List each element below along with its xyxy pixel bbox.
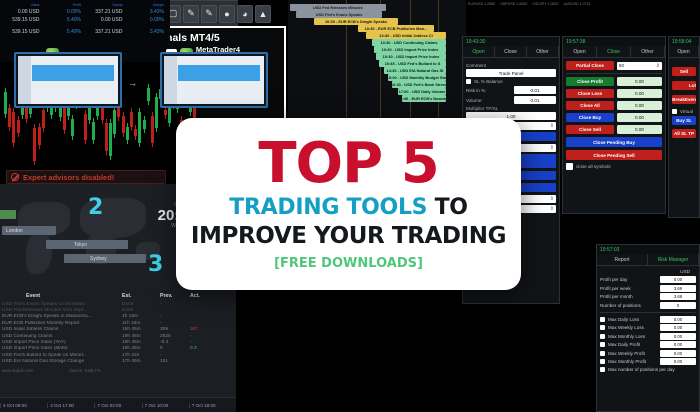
calendar-prev: 0	[160, 346, 190, 351]
report-limit-row: Max Weekly Profit0.00	[600, 350, 696, 357]
calendar-col-est: Est.	[122, 293, 160, 299]
quote-pct: 5.40%	[44, 17, 86, 23]
gantt-bar[interactable]: 10:30 - USD Import Price Index	[376, 53, 446, 60]
monitor-stand	[58, 106, 79, 108]
calendar-est: 19h 45m	[122, 327, 160, 332]
calendar-row[interactable]: USD Fed's Bullard to Speak on Monet...17…	[0, 352, 236, 358]
close-value[interactable]: 0.00	[617, 125, 662, 134]
close-profit-button[interactable]: Close Profit	[566, 77, 614, 86]
ticker-item: AUDUSD 1.0721	[563, 2, 590, 6]
limit-checkbox[interactable]	[600, 317, 605, 322]
candle	[38, 127, 41, 145]
ticker-item: EURUSD 1.2680	[468, 2, 495, 6]
calendar-prev: 101	[160, 359, 190, 364]
tab-open[interactable]: Open	[669, 46, 699, 57]
calendar-footer-right: Source: Daily FX	[69, 368, 100, 373]
ticker-item: USDJPY 1.0822	[532, 2, 558, 6]
report-row: Profit per month3.69	[600, 293, 696, 300]
calendar-est: 19h 45m	[122, 334, 160, 339]
max-positions-row[interactable]: Max number of positions per day	[600, 367, 696, 372]
limit-checkbox[interactable]	[600, 342, 605, 347]
lot-button[interactable]: Lot	[672, 81, 696, 90]
monitor-grid	[18, 56, 31, 104]
close-sell-button[interactable]: Close Sell	[566, 125, 614, 134]
quote-col-3: Equity	[85, 3, 127, 7]
calendar-footer-left: www.dailyfx.com	[2, 368, 33, 373]
limit-label: Max Daily Profit	[608, 342, 657, 347]
risk-label: Risk in %:	[466, 88, 511, 93]
calendar-actual	[190, 302, 220, 307]
calendar-col-prev: Prev.	[160, 293, 190, 299]
calendar-header: Event Est. Prev. Act.	[0, 290, 236, 301]
limit-label: Max Weekly Loss	[608, 325, 657, 330]
close-pending-sell-button[interactable]: Close Pending Sell	[566, 150, 662, 160]
limit-label: Max Weekly Profit	[608, 351, 657, 356]
report-label: Profit per month	[600, 294, 657, 299]
close-button-row: Close All0.00	[566, 101, 662, 110]
report-value[interactable]: 3.69	[660, 285, 696, 292]
calendar-actual: 0.3	[190, 346, 220, 351]
other-panel-body: Sell Lot BreakEven Virtual Buy SL All SL…	[669, 58, 699, 141]
sl-balance-row[interactable]: SL % Balance	[466, 79, 556, 84]
calendar-footer: www.dailyfx.com Source: Daily FX	[0, 365, 236, 376]
axis-tick: 7 Oct 10:00	[142, 403, 189, 408]
monitor-source	[14, 52, 122, 108]
no-entry-icon	[11, 173, 19, 181]
quote-col-1: Value	[2, 3, 44, 7]
candle	[8, 108, 11, 126]
hero-card: TOP 5 TRADING TOOLS TO IMPROVE YOUR TRAD…	[176, 118, 521, 290]
limit-checkbox[interactable]	[600, 325, 605, 330]
close-panel: 19:57:38 Open Close Other Partial Close …	[562, 36, 666, 214]
monitor-target	[160, 52, 268, 108]
axis-tick: 4 Oct 09:00	[0, 403, 47, 408]
partial-close-stepper[interactable]: 50⇕	[617, 62, 662, 70]
candle	[33, 128, 36, 161]
trade-panel-tabs: Open Close Other	[463, 46, 559, 58]
calendar-row[interactable]: USD Fed's Evans Speaks on Monetary...Don…	[0, 301, 236, 307]
calendar-actual	[190, 359, 220, 364]
tab-other[interactable]: Other	[527, 46, 559, 57]
tab-other[interactable]: Other	[631, 46, 665, 57]
calendar-timeline-axis: 4 Oct 09:004 Oct 17:007 Oct 02:007 Oct 1…	[0, 397, 236, 412]
gantt-bar[interactable]: 10:30 - USD Import Price Index	[374, 46, 446, 53]
quote-value: 0.00 USD	[2, 9, 44, 15]
sl-balance-label: SL % Balance	[474, 79, 556, 84]
close-button-row: Close Sell0.00	[566, 125, 662, 134]
gantt-bar[interactable]: 16:30 - USD Fed's Bank Stress	[392, 81, 446, 88]
report-value[interactable]: 0.00	[660, 276, 696, 283]
report-limit-rows: Max Daily Loss0.00Max Weekly Loss0.00Max…	[600, 316, 696, 366]
report-panel: 19:57:03 Report Risk Manager USD Profit …	[596, 244, 700, 412]
calendar-est: Done	[122, 308, 160, 313]
calendar-est: 19h 45m	[122, 340, 160, 345]
report-row: Profit per week3.69	[600, 285, 696, 292]
table-row: 539.15 USD 5.40% 337.21 USD 3.43%	[0, 28, 170, 36]
gantt-bar[interactable]: 10:30 - EUR ECB Publishes Mon...	[358, 25, 434, 32]
calendar-event: USD Fed's Bullard to Speak on Monet...	[2, 353, 122, 358]
close-button-row: Close Loss0.00	[566, 89, 662, 98]
report-limit-row: Max Monthly Loss0.00	[600, 333, 696, 340]
monitor-chart-area	[32, 65, 114, 81]
quote-value: 539.15 USD	[2, 17, 44, 23]
calendar-actual	[190, 353, 220, 358]
quote-value: 539.15 USD	[2, 29, 44, 35]
calendar-row[interactable]: USD Import Price Index (MoM)19h 45m00.3	[0, 346, 236, 352]
report-label: Number of positions	[600, 303, 657, 308]
session-bar-active	[0, 210, 16, 219]
partial-close-button[interactable]: Partial Close	[566, 61, 614, 70]
calendar-prev: 308	[160, 327, 190, 332]
report-value[interactable]: 0	[660, 302, 696, 309]
close-all-symbols-label: close all symbols	[576, 164, 662, 169]
calendar-row[interactable]: EUR ECB Publishes Monthly Report11h 16m-	[0, 320, 236, 326]
monitor-chart-area	[178, 65, 260, 81]
calendar-actual	[190, 314, 220, 319]
limit-checkbox[interactable]	[600, 359, 605, 364]
table-row: 539.15 USD 5.40% 0.00 USD 0.00%	[0, 16, 170, 24]
monitor-screen	[18, 56, 118, 104]
close-button-row: Close Profit0.00	[566, 77, 662, 86]
limit-value[interactable]: 0.00	[660, 358, 696, 365]
candle	[21, 108, 24, 115]
gantt-bar[interactable]: USD Fed's Evans Speaks	[296, 11, 382, 18]
session-bar-london[interactable]: London	[2, 226, 56, 235]
calendar-event: USD Initial Jobless Claims	[2, 327, 122, 332]
calendar-prev: -	[160, 302, 190, 307]
axis-tick: 4 Oct 17:00	[47, 403, 94, 408]
tpsl-label: Multiplier TP/SL	[466, 106, 556, 111]
report-value[interactable]: 3.69	[660, 293, 696, 300]
close-all-symbols-row[interactable]: close all symbols	[566, 163, 662, 170]
close-value[interactable]: 0.00	[617, 101, 662, 110]
calendar-prev: -	[160, 308, 190, 313]
step-badge-3: 3	[148, 252, 163, 277]
quote-table-header: Value Profit Equity Margin	[0, 0, 170, 8]
close-pending-buy-button[interactable]: Close Pending Buy	[566, 137, 662, 147]
other-panel: 19:58:04 Open Sell Lot BreakEven Virtual…	[668, 36, 700, 218]
calendar-est: Done	[122, 302, 160, 307]
report-rows: Profit per day0.00Profit per week3.69Pro…	[600, 276, 696, 309]
limit-label: Max Monthly Loss	[608, 334, 657, 339]
candle	[105, 123, 108, 151]
volume-label: Volume:	[466, 98, 511, 103]
axis-tick: 7 Oct 18:00	[189, 403, 236, 408]
comment-label: Comment	[466, 63, 556, 68]
candle	[122, 116, 125, 133]
gantt-bar[interactable]: 17:00 - USD Daily Volume	[398, 88, 446, 95]
calendar-prev: 2525	[160, 334, 190, 339]
tab-risk-manager[interactable]: Risk Manager	[648, 254, 699, 265]
candle	[138, 112, 141, 143]
limit-value[interactable]: 0.00	[660, 324, 696, 331]
calendar-prev: -	[160, 314, 190, 319]
limit-label: Max Daily Loss	[608, 317, 657, 322]
gantt-bar[interactable]: 10:30 - USD Initial Jobless Cl	[366, 32, 446, 39]
calendar-row[interactable]: USD Initial Jobless Claims19h 45m308307	[0, 327, 236, 333]
calendar-est: 19h 45m	[122, 346, 160, 351]
tab-open[interactable]: Open	[563, 46, 597, 57]
calendar-event: USD Fed's Evans Speaks on Monetary...	[2, 302, 122, 307]
calendar-rows: USD Fed's Evans Speaks on Monetary...Don…	[0, 301, 236, 365]
candle	[4, 92, 7, 114]
breakeven-button[interactable]: BreakEven	[672, 95, 696, 104]
calendar-event: EUR ECB Publishes Monthly Report	[2, 321, 122, 326]
other-panel-tabs: Open	[669, 46, 699, 58]
limit-label: Max Monthly Profit	[608, 359, 657, 364]
close-value[interactable]: 0.00	[617, 113, 662, 122]
virtual-label: Virtual	[680, 109, 696, 114]
clock-icon[interactable]: ◕	[237, 5, 253, 23]
calendar-col-act: Act.	[190, 293, 220, 299]
candle	[71, 119, 74, 136]
monitor-stand	[204, 106, 225, 108]
quote-value: 337.21 USD	[85, 29, 127, 35]
hero-subtitle-highlight: TRADING TOOLS	[229, 195, 427, 220]
virtual-row[interactable]: Virtual	[672, 109, 696, 114]
candle	[126, 127, 129, 140]
gantt-bar[interactable]: 10:30 - USD Continuing Claims	[372, 39, 446, 46]
sell-button[interactable]: Sell	[672, 67, 696, 76]
calendar-prev: -	[160, 321, 190, 326]
candle	[130, 112, 133, 128]
candle	[12, 112, 15, 143]
report-limit-row: Max Monthly Profit0.00	[600, 358, 696, 365]
ticker-strip: EURUSD 1.2680GBPUSD 1.6082USDJPY 1.0822A…	[462, 0, 700, 8]
calendar-prev: -0.4	[160, 340, 190, 345]
close-button-row: Close Buy0.00	[566, 113, 662, 122]
buy-sl-button[interactable]: Buy SL	[672, 116, 696, 125]
candle	[113, 110, 116, 134]
candle	[134, 129, 137, 137]
panel-timestamp: 19:43:30	[463, 37, 559, 46]
calendar-row[interactable]: USD EIA Natural Gas Storage Change17h 45…	[0, 358, 236, 364]
panel-timestamp: 19:57:38	[563, 37, 665, 46]
limit-checkbox[interactable]	[600, 351, 605, 356]
screenshot-root: forexcracked.com Value Profit Equity Mar…	[0, 0, 700, 412]
close-all-symbols-checkbox[interactable]	[566, 163, 573, 170]
candle	[147, 88, 150, 101]
calendar-event: USD Continuing Claims	[2, 334, 122, 339]
copy-arrow-icon: →	[128, 78, 137, 88]
gantt-bar[interactable]: 14:30 - USD EIA Natural Gas St	[384, 67, 446, 74]
report-label: Profit per week	[600, 286, 657, 291]
hero-subtitle: TRADING TOOLS TO	[229, 196, 467, 220]
calendar-actual	[190, 321, 220, 326]
sl-balance-checkbox[interactable]	[466, 79, 471, 84]
monitor-grid	[164, 56, 177, 104]
gantt-bar[interactable]: USD Fed Releases Minutes	[290, 4, 386, 11]
economic-calendar: Event Est. Prev. Act. USD Fed's Evans Sp…	[0, 290, 236, 412]
session-bar-tokyo[interactable]: Tokyo	[46, 240, 128, 249]
close-panel-body: Partial Close 50⇕ Close Profit0.00Close …	[563, 58, 665, 175]
report-limit-row: Max Daily Loss0.00	[600, 316, 696, 323]
candle	[155, 97, 158, 128]
close-buttons-group: Close Profit0.00Close Loss0.00Close All0…	[566, 77, 662, 134]
limit-value[interactable]: 0.00	[660, 333, 696, 340]
expert-advisor-icon[interactable]: ✎	[201, 5, 217, 23]
calendar-est: 17h 45m	[122, 359, 160, 364]
limit-value[interactable]: 0.00	[660, 316, 696, 323]
quote-pct: 3.43%	[127, 29, 169, 35]
quote-value: 337.21 USD	[85, 9, 127, 15]
currency-label: USD	[600, 269, 696, 274]
calendar-row[interactable]: USD Continuing Claims19h 45m2525-	[0, 333, 236, 339]
calendar-row[interactable]: USD Import Price Index (YoY)19h 45m-0.4-	[0, 339, 236, 345]
hero-title: TOP 5	[258, 137, 438, 190]
ea-banner-text: Expert advisors disabled!	[23, 173, 114, 182]
bell-icon[interactable]: ▲	[255, 5, 271, 23]
gantt-bar[interactable]: 15:00 - USD Monthly Budget Stat	[388, 74, 446, 81]
candle	[84, 114, 87, 139]
report-panel-body: USD Profit per day0.00Profit per week3.6…	[597, 266, 699, 376]
tab-open[interactable]: Open	[463, 46, 495, 57]
calendar-actual	[190, 308, 220, 313]
calendar-actual: -	[190, 340, 220, 345]
quote-col-2: Profit	[44, 3, 86, 7]
calendar-actual: -	[190, 334, 220, 339]
volume-input[interactable]: 0.01	[514, 96, 556, 104]
report-row: Profit per day0.00	[600, 276, 696, 283]
max-positions-label: Max number of positions per day	[608, 367, 696, 372]
circle-icon[interactable]: ●	[219, 5, 235, 23]
ticker-item: GBPUSD 1.6082	[500, 2, 527, 6]
calendar-row[interactable]: USD Fed Releases Minutes from Sept...Don…	[0, 307, 236, 313]
report-panel-tabs: Report Risk Manager	[597, 254, 699, 266]
table-row: 0.00 USD 0.00% 337.21 USD 3.43%	[0, 8, 170, 16]
candle	[109, 123, 112, 156]
panel-timestamp: 19:57:03	[597, 245, 699, 254]
calendar-actual: 307	[190, 327, 220, 332]
close-buy-button[interactable]: Close Buy	[566, 113, 614, 122]
quote-pct: 0.00%	[44, 9, 86, 15]
candle	[143, 120, 146, 129]
candle	[92, 122, 95, 140]
close-loss-button[interactable]: Close Loss	[566, 89, 614, 98]
session-bar-sydney[interactable]: Sydney	[64, 254, 146, 263]
calendar-event: USD Import Price Index (MoM)	[2, 346, 122, 351]
calendar-est: 17h 22s	[122, 353, 160, 358]
calendar-est: 11h 16m	[122, 321, 160, 326]
candle	[164, 110, 167, 116]
close-value[interactable]: 0.00	[617, 77, 662, 86]
volume-row: Volume: 0.01	[466, 96, 556, 104]
session-label: Sydney	[90, 256, 107, 262]
wrench-icon[interactable]: ✎	[183, 5, 199, 23]
quote-pct: 3.43%	[127, 9, 169, 15]
gantt-bar[interactable]: 10:30 - EUR ECB's Draghi Speaks	[314, 18, 398, 25]
close-panel-tabs: Open Close Other	[563, 46, 665, 58]
calendar-est: 1h 15m	[122, 314, 160, 319]
expert-advisors-disabled-banner: Expert advisors disabled!	[6, 170, 166, 184]
risk-input[interactable]: 0.01	[514, 86, 556, 94]
quote-value: 0.00 USD	[85, 17, 127, 23]
risk-row: Risk in %: 0.01	[466, 86, 556, 94]
comment-input[interactable]: Trade Panel	[466, 69, 556, 77]
calendar-row[interactable]: EUR ECB's Draghi Speaks in Massachu...1h…	[0, 314, 236, 320]
report-limit-row: Max Weekly Loss0.00	[600, 324, 696, 331]
quote-pct: 0.00%	[127, 17, 169, 23]
calendar-col-event: Event	[2, 293, 122, 299]
report-row: Number of positions0	[600, 302, 696, 309]
candle	[151, 116, 154, 142]
step-badge-2: 2	[88, 195, 103, 220]
quote-col-4: Margin	[127, 3, 169, 7]
report-label: Profit per day	[600, 277, 657, 282]
calendar-event: EUR ECB's Draghi Speaks in Massachu...	[2, 314, 122, 319]
calendar-event: USD EIA Natural Gas Storage Change	[2, 359, 122, 364]
max-positions-checkbox[interactable]	[600, 367, 605, 372]
calendar-prev: -	[160, 353, 190, 358]
axis-tick: 7 Oct 02:00	[94, 403, 141, 408]
quote-pct: 5.40%	[44, 29, 86, 35]
candle	[17, 120, 20, 134]
limit-value[interactable]: 0.00	[660, 350, 696, 357]
all-sl-tp-button[interactable]: All SL TP	[672, 129, 696, 138]
gantt-bar[interactable]: 10:45 - USD Fed's Bullard to S	[379, 60, 446, 67]
calendar-event: USD Fed Releases Minutes from Sept...	[2, 308, 122, 313]
tab-close[interactable]: Close	[597, 46, 631, 57]
tab-report[interactable]: Report	[597, 254, 648, 265]
virtual-checkbox[interactable]	[672, 109, 677, 114]
panel-timestamp: 19:58:04	[669, 37, 699, 46]
close-value[interactable]: 0.00	[617, 89, 662, 98]
partial-close-row: Partial Close 50⇕	[566, 61, 662, 70]
limit-checkbox[interactable]	[600, 334, 605, 339]
report-limit-row: Max Daily Profit0.00	[600, 341, 696, 348]
close-all-button[interactable]: Close All	[566, 101, 614, 110]
session-label: Tokyo	[74, 242, 87, 248]
hero-subtitle-rest: TO	[435, 195, 468, 220]
hero-free-badge: [FREE DOWNLOADS]	[274, 256, 423, 271]
tab-close[interactable]: Close	[495, 46, 527, 57]
gantt-bar[interactable]: 19:30 - EUR ECB's Nowotny	[402, 95, 446, 102]
hero-tagline: IMPROVE YOUR TRADING	[191, 224, 506, 249]
session-label: London	[6, 228, 23, 234]
news-timeline-chart: USD Fed Releases MinutesUSD Fed's Evans …	[288, 0, 466, 128]
calendar-event: USD Import Price Index (YoY)	[2, 340, 122, 345]
candle	[42, 110, 45, 128]
limit-value[interactable]: 0.00	[660, 341, 696, 348]
monitor-screen	[164, 56, 264, 104]
